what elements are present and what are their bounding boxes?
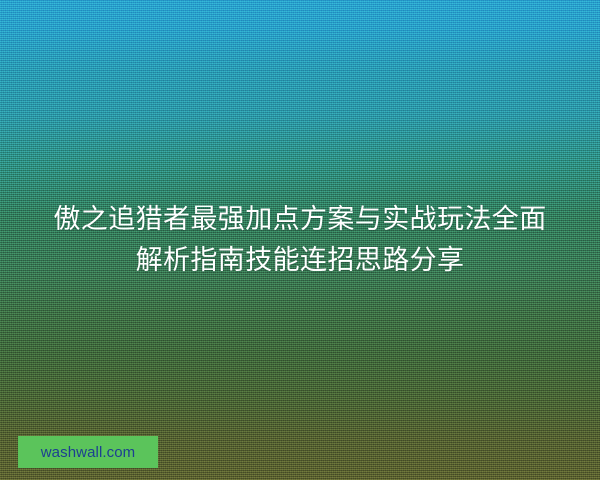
article-cover-card: 傲之追猎者最强加点方案与实战玩法全面 解析指南技能连招思路分享 washwall…: [0, 0, 600, 480]
headline-block: 傲之追猎者最强加点方案与实战玩法全面 解析指南技能连招思路分享: [0, 0, 600, 480]
watermark-label: washwall.com: [41, 444, 136, 461]
headline-line-1: 傲之追猎者最强加点方案与实战玩法全面: [53, 199, 546, 240]
headline-line-2: 解析指南技能连招思路分享: [136, 240, 465, 281]
watermark-badge[interactable]: washwall.com: [18, 436, 158, 468]
